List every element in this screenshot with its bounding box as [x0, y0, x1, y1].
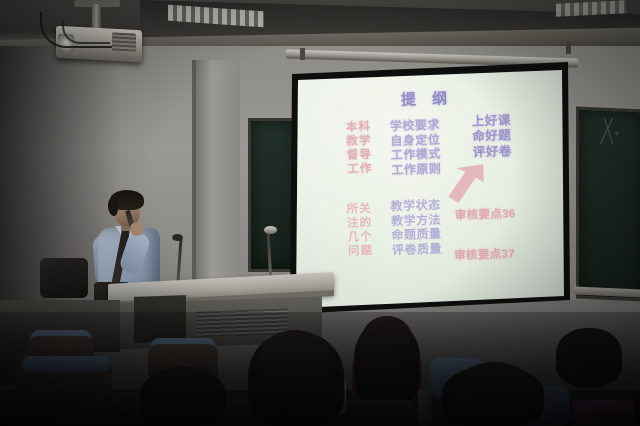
lecture-hall-photo: 提 纲 本科 教学 督导 工作 学校要求 自身定位 工作模式 工作原则 上好课 … — [0, 0, 640, 426]
slide-outcome-items: 上好课 命好题 评好卷 — [472, 113, 513, 160]
slide-topic-label-2: 所关 注的 几个 问题 — [346, 202, 373, 259]
screen-bracket-left — [300, 48, 305, 60]
slide-key-point-37: 审核要点37 — [454, 245, 515, 263]
projector-cable-secondary — [62, 20, 110, 44]
slide-topic-items-1: 学校要求 自身定位 工作模式 工作原则 — [390, 118, 442, 178]
audience-chair — [22, 356, 110, 372]
audience-person-head — [150, 366, 216, 418]
slide-title: 提 纲 — [293, 84, 562, 114]
slide-key-point-36: 审核要点36 — [455, 205, 516, 223]
podium-mic-head-2 — [264, 226, 277, 234]
podium-vent — [196, 308, 288, 337]
audience-person-head — [258, 330, 332, 392]
podium-side-panel — [134, 295, 186, 343]
chalk-marks — [582, 118, 640, 144]
audience-torso — [572, 400, 634, 426]
podium-mic-head-1 — [172, 234, 183, 241]
presenter-hand — [130, 222, 143, 236]
slide-topic-label-1: 本科 教学 督导 工作 — [346, 120, 373, 177]
audience-person-hair — [556, 328, 622, 384]
wall-pillar — [196, 60, 240, 310]
audience-person-head — [454, 362, 534, 418]
up-right-arrow-icon — [445, 162, 486, 205]
presenter-hair-side — [108, 198, 118, 216]
water-bottle — [418, 390, 432, 426]
slide-topic-items-2: 教学状态 教学方法 命题质量 评卷质量 — [390, 198, 442, 258]
projector-vent — [112, 32, 136, 53]
audience-person-head — [362, 316, 412, 360]
screen-bracket-right — [566, 42, 571, 54]
presenter-chair — [40, 258, 88, 298]
blackboard-left — [248, 118, 297, 272]
